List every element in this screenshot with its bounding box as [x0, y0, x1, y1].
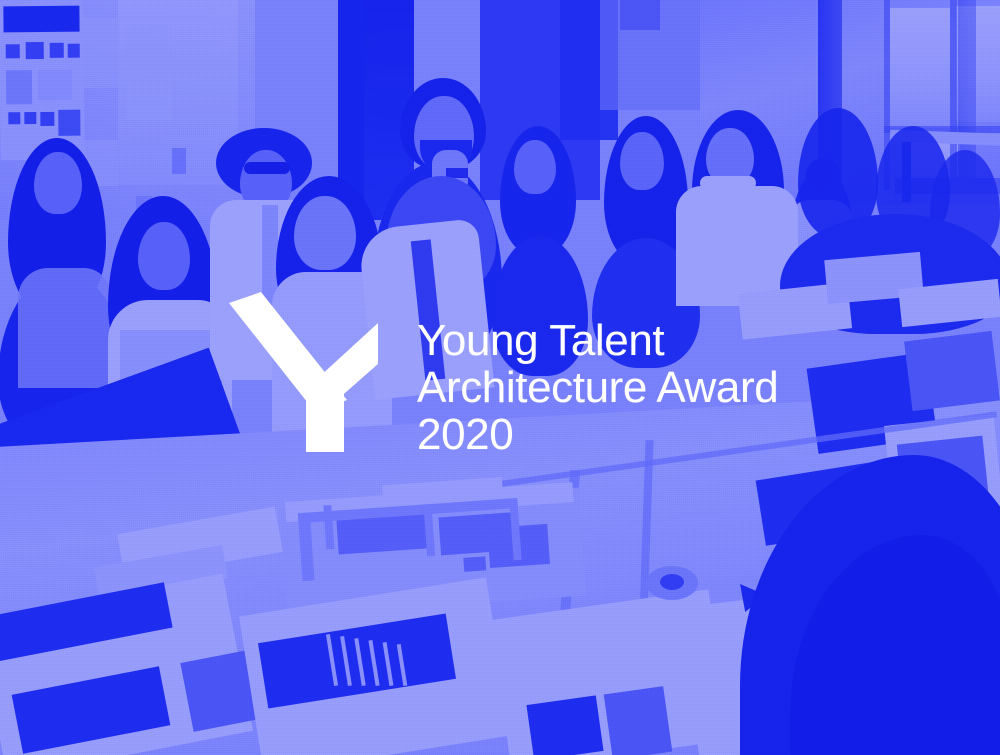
poster-title: Young Talent Architecture Award 2020: [417, 317, 778, 458]
poster: Young Talent Architecture Award 2020: [0, 0, 1000, 755]
young-talent-y-mark-icon: [206, 292, 386, 460]
title-line-2: Architecture Award: [417, 364, 778, 411]
poster-overlay: Young Talent Architecture Award 2020: [0, 0, 1000, 755]
title-line-3: 2020: [417, 411, 778, 458]
title-line-1: Young Talent: [417, 317, 778, 364]
